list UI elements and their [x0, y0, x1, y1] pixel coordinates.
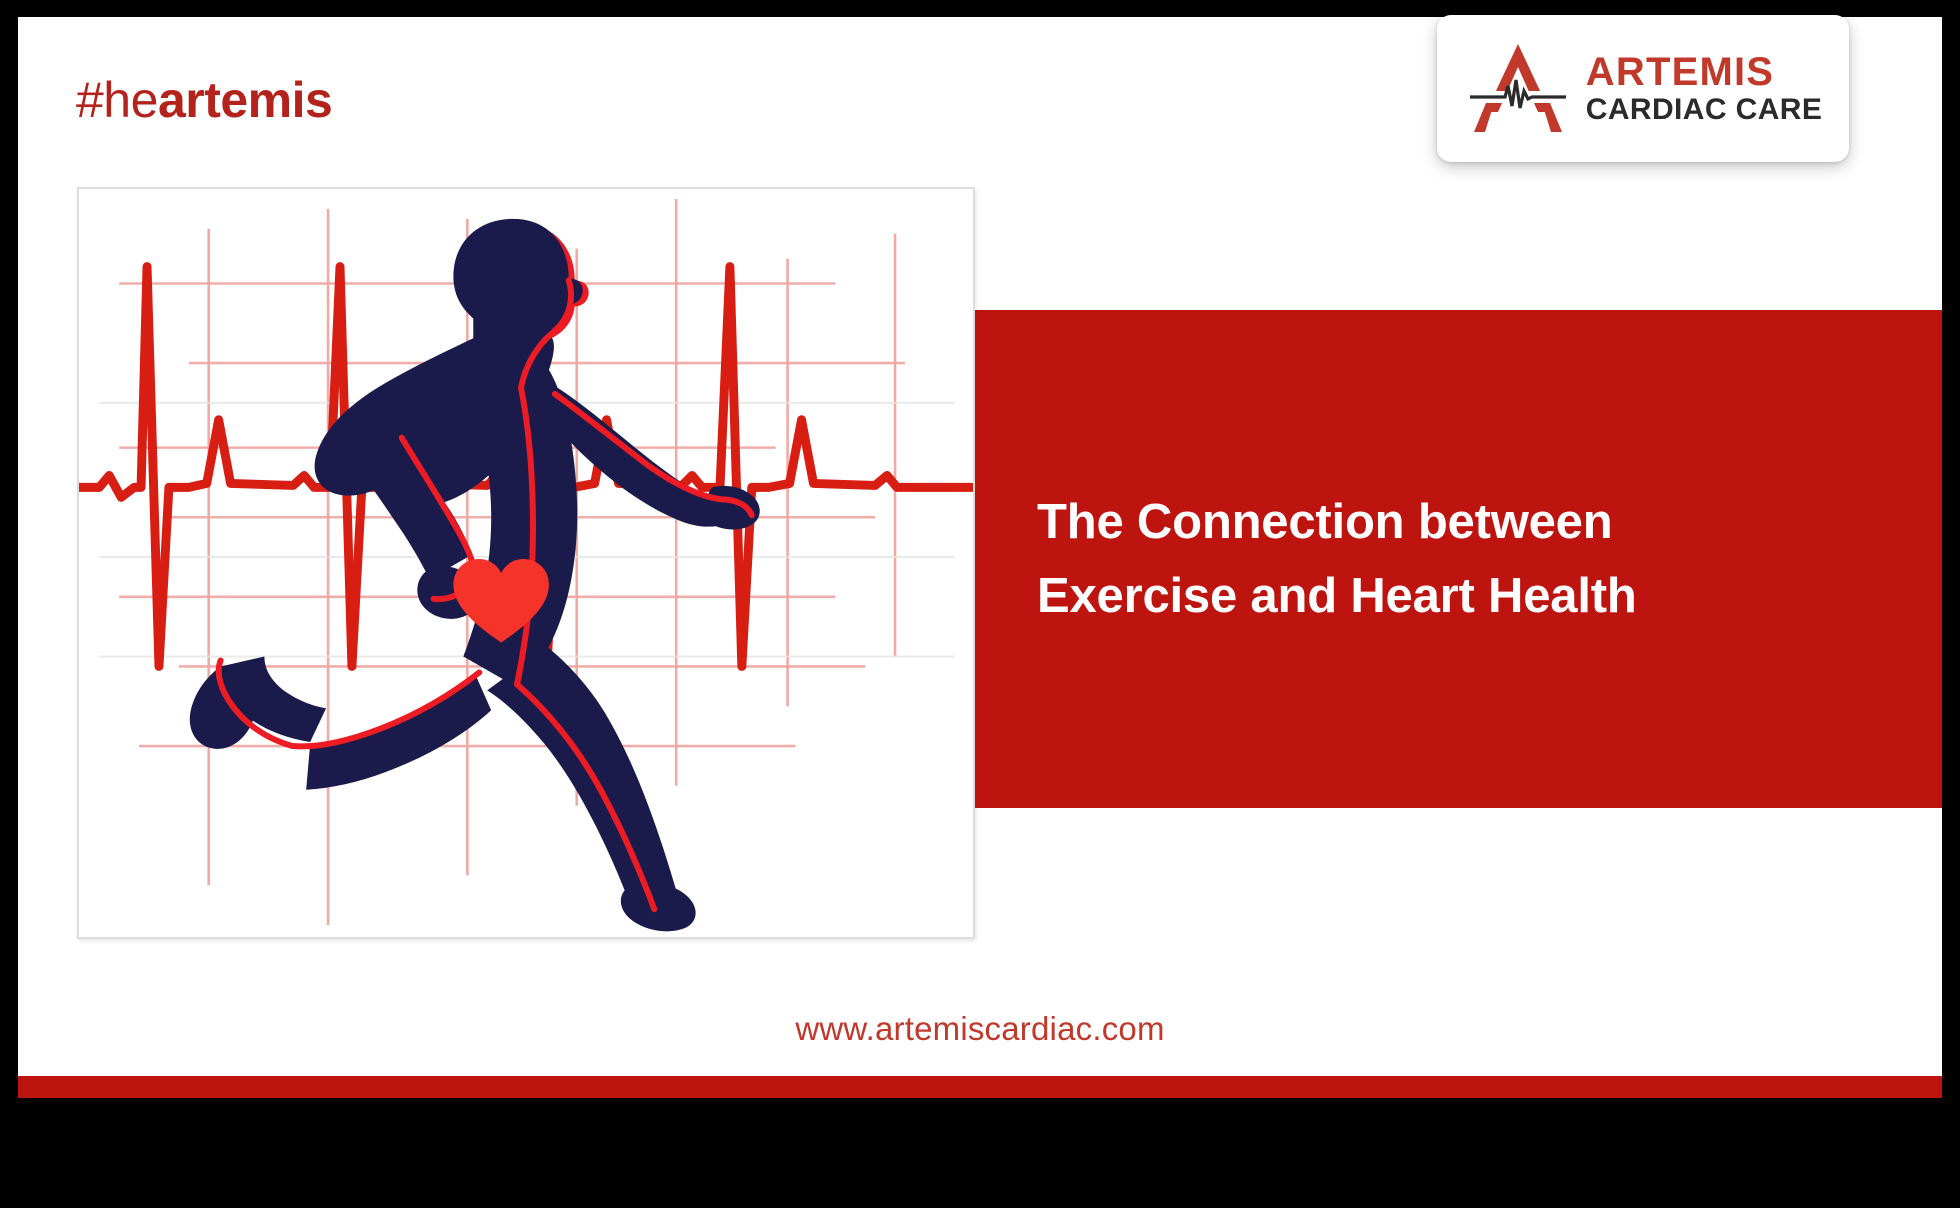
hashtag-suffix: artemis [158, 72, 332, 128]
artemis-logo-card[interactable]: ARTEMIS CARDIAC CARE [1437, 15, 1849, 162]
hashtag-heartemis: #heartemis [76, 75, 332, 125]
logo-line-artemis: ARTEMIS [1586, 52, 1822, 92]
logo-wordmark: ARTEMIS CARDIAC CARE [1586, 52, 1822, 125]
title-banner: The Connection between Exercise and Hear… [975, 310, 1942, 808]
footer-red-bar [18, 1076, 1942, 1098]
hashtag-prefix: #he [76, 72, 158, 128]
footer-website-url[interactable]: www.artemiscardiac.com [18, 1010, 1942, 1048]
title-line-2: Exercise and Heart Health [1037, 559, 1886, 633]
hero-image-frame [77, 187, 975, 939]
runner-ecg-illustration [79, 189, 973, 937]
artemis-a-ecg-logo-icon [1464, 36, 1572, 142]
slide-canvas: #heartemis ARTEMIS CARDIAC CAR [18, 17, 1942, 1098]
logo-line-cardiac-care: CARDIAC CARE [1586, 95, 1822, 125]
slide-frame: #heartemis ARTEMIS CARDIAC CAR [0, 0, 1960, 1208]
title-line-1: The Connection between [1037, 485, 1886, 559]
